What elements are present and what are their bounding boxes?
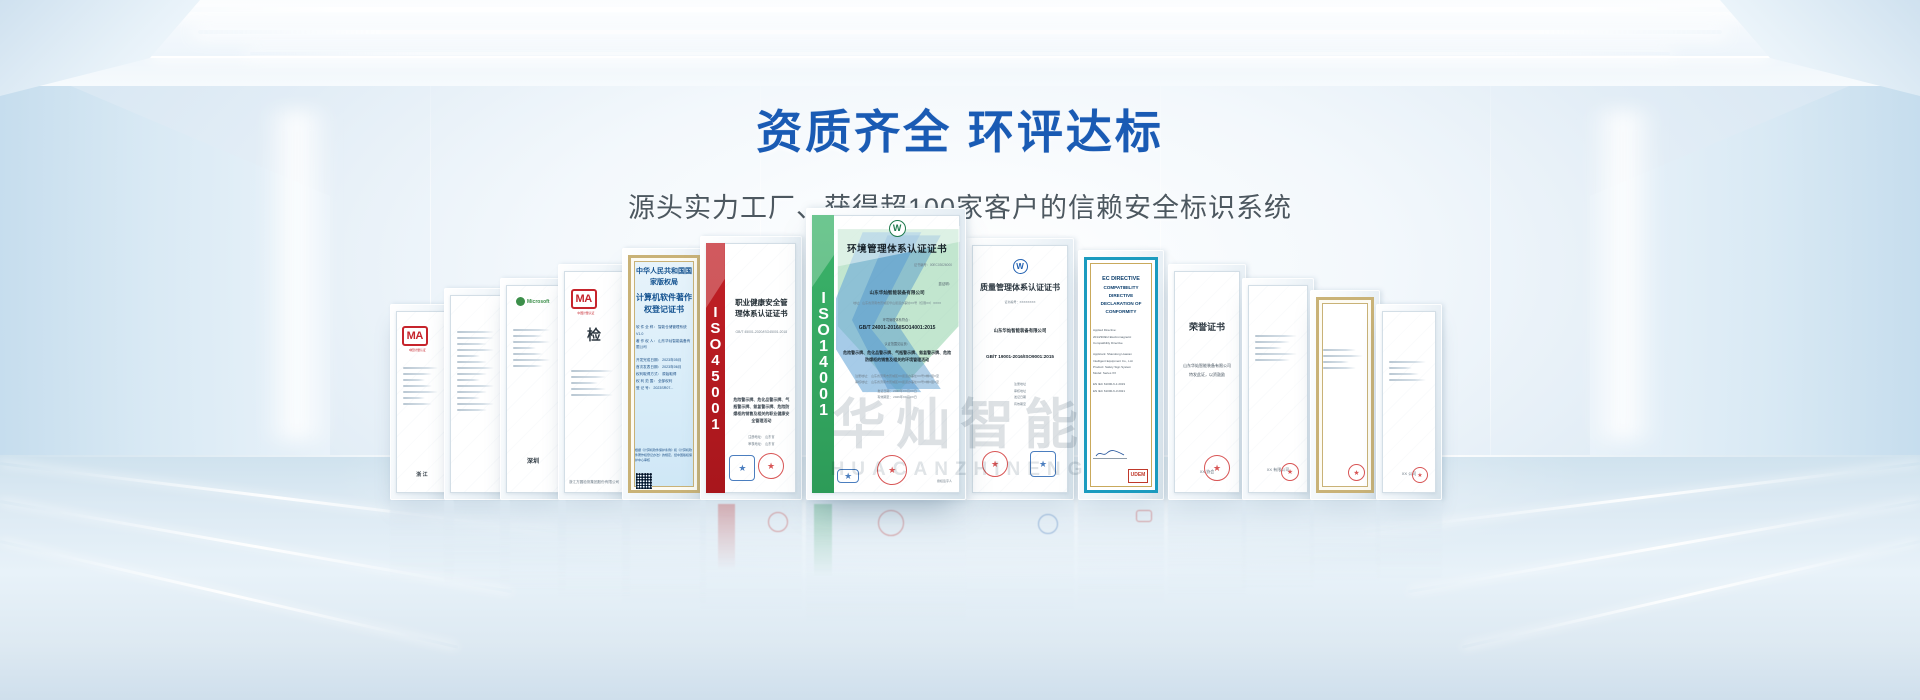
ma-badge-sub: 中国计量认证 [400,348,434,352]
certificate-fields: 注册地址： 山东省济南市历城区XX街道办事处XX号X幢X层X室 审核地址： 山东… [842,373,952,400]
certificate-sheet: ISO14001 W 环境管理体系认证证书 证书编号：00EC030 [812,215,960,493]
iso-band-red: ISO45001 [706,243,725,493]
signature-label: 授权签字人 [937,479,952,483]
certificate-row: MA 中国计量认证 浙 江 [0,230,1920,500]
certificate-field: 审核地址： 山东省济南市历城区XX街道办事处XX号X幢X层X室 [842,379,952,385]
certificate-scope: 危险警示牌、危化品警示牌、气瓶警示牌、氨氢警示牌、危险防爆柜的销售及相关的环境管… [842,349,952,363]
certificate-heading-line2: COMPATIBILITY DIRECTIVE [1093,284,1149,300]
certificate-frame[interactable]: 荣誉证书 山东华灿智能装备有限公司 特发此证，以资鼓励 XX 协会 [1168,264,1246,500]
certificate-heading: 环境管理体系认证证书 [842,243,952,257]
ma-badge: MA [402,326,428,346]
ma-badge: MA [571,289,597,309]
paper-texture [1248,285,1308,493]
certificate-sheet: Microsoft 深圳 [506,285,560,493]
certificate-field: 登 记 号： 2023SR07... [636,385,692,392]
certificate-sheet [450,295,504,493]
certificate-field: 首次发表日期： 2023年06月 [636,364,692,371]
certificate-field: 权利取得方式： 原始取得 [636,371,692,378]
iso-band-label: ISO14001 [814,290,832,418]
certificate-field: 有效期至： 2026年XX月XX日 [842,394,952,400]
ceiling-light-strip [140,7,1780,12]
ceiling-light-strip [250,52,1670,55]
certificate-sheet: MA 中国计量认证 浙 江 [396,311,448,493]
official-seal [1412,467,1428,483]
official-seal [1204,455,1230,481]
ma-badge-sub: 中国计量认证 [569,311,603,315]
certificate-field: 著 作 权 人： 山东华灿智能装备有限公司 [636,338,692,352]
certificate-fields: Applied Directive: 2014/30/EU Electromag… [1084,315,1158,394]
certificate-footer: 浙 江 [396,472,448,480]
certificate-frame[interactable]: 中华人民共和国国家版权局 计算机软件著作权登记证书 软 件 全 称： 智能仓储管… [622,248,706,500]
official-seal [877,455,907,485]
certificate-field: 开发完成日期： 2023年05月 [636,357,692,364]
udem-badge: UDEM [1128,469,1148,483]
band-corner-accent [812,215,834,287]
certificate-frame[interactable] [1310,290,1380,500]
certificate-frame[interactable]: XX 有限公司 [1242,278,1314,500]
certificate-fields: 软 件 全 称： 智能仓储管理系统 V1.0 著 作 权 人： 山东华灿智能装备… [628,316,700,391]
certificate-sheet: EC DIRECTIVE COMPATIBILITY DIRECTIVE DEC… [1084,257,1158,493]
certificate-number: 证书编号：00EC03026000 [842,262,952,267]
microsoft-logo: Microsoft [516,297,550,306]
standard-label: 环境管理体系符合： [842,317,952,322]
certificate-sheet: XX 公司 [1382,311,1436,493]
certificate-field: 软 件 全 称： 智能仓储管理系统 V1.0 [636,324,692,338]
certificate-frame[interactable]: MA 中国计量认证 检 浙江方圆检测集团股份有限公司 [558,264,630,500]
certificate-frame[interactable]: XX 公司 [1376,304,1442,500]
certificate-standard: GB/T 24001-2016/ISO14001:2015 [842,325,952,331]
microsoft-logo-label: Microsoft [527,299,550,305]
certificate-frame[interactable]: EC DIRECTIVE COMPATIBILITY DIRECTIVE DEC… [1078,250,1164,500]
qr-code [636,473,652,489]
certificate-sheet [1316,297,1374,493]
certificate-sheet: 中华人民共和国国家版权局 计算机软件著作权登记证书 软 件 全 称： 智能仓储管… [628,255,700,493]
ceiling [0,0,1920,86]
certificate-sheet: 荣誉证书 山东华灿智能装备有限公司 特发此证，以资鼓励 XX 协会 [1174,271,1240,493]
accreditation-mark [729,455,755,481]
ceiling-light-strip [198,30,1722,34]
paper-texture [450,295,504,493]
official-seal [1348,464,1365,481]
scope-label: 认证范围见后页： [842,341,952,346]
company-address: 地址：山东省济南市历城区华山街道办事处XX号（仅限XX）XXXX [842,301,952,306]
official-seal [982,451,1008,477]
certificate-frame-primary[interactable]: ISO14001 W 环境管理体系认证证书 证书编号：00EC030 [806,208,966,500]
certificate-heading-line1: EC DIRECTIVE [1093,275,1149,284]
company-name: 山东华灿智能装备有限公司 [842,290,952,296]
certificate-heading-line2: 计算机软件著作权登记证书 [635,292,693,316]
certificate-sheet: XX 有限公司 [1248,285,1308,493]
certificate-heading-line1: 中华人民共和国国家版权局 [635,267,693,288]
certificate-footer: 浙江方圆检测集团股份有限公司 [564,480,624,485]
certificate-sheet: MA 中国计量认证 检 浙江方圆检测集团股份有限公司 [564,271,624,493]
paper-texture [1382,311,1436,493]
official-seal [1281,463,1299,481]
certificate-footer: 深圳 [506,458,560,467]
band-corner-accent [706,243,725,308]
accreditation-mark [837,469,859,483]
company-label: 兹证明： [842,281,952,286]
certificate-field: EN IEC 61000-6-3:2021 [1093,388,1149,394]
certificate-sheet: W 质量管理体系认证证书 证书编号：XXXXXXXX 山东华灿智能装备有限公司 … [972,245,1068,493]
certificate-footer: XX 有限公司 [1248,467,1308,473]
certificate-frame[interactable]: W 质量管理体系认证证书 证书编号：XXXXXXXX 山东华灿智能装备有限公司 … [966,238,1074,500]
certificate-sheet: ISO45001 职业健康安全管理体系认证证书 GB/T 45001-2020/… [706,243,796,493]
iso-band-green: ISO14001 [812,215,834,493]
accreditation-mark [1030,451,1056,477]
certificate-heading-line3: DECLARATION OF CONFORMITY [1093,300,1149,316]
certificate-heading-block: 中华人民共和国国家版权局 计算机软件著作权登记证书 [628,255,700,316]
certificate-frame[interactable]: Microsoft 深圳 [500,278,566,500]
signature-line [1093,449,1127,459]
banner-stage: 资质齐全 环评达标 源头实力工厂、获得超100家客户的信赖安全标识系统 MA 中… [0,0,1920,700]
iso-band-label: ISO45001 [707,304,724,432]
certificate-field: 权 利 范 围： 全部权利 [636,378,692,385]
certificate-frame[interactable]: ISO45001 职业健康安全管理体系认证证书 GB/T 45001-2020/… [700,236,802,500]
certification-body-logo: W [842,220,952,237]
certificate-footer: 根据《计算机软件保护条例》和《计算机软件著作权登记办法》的规定，经中国版权保护中… [635,448,693,463]
certificate-body-lines [1316,339,1374,369]
official-seal [758,453,784,479]
